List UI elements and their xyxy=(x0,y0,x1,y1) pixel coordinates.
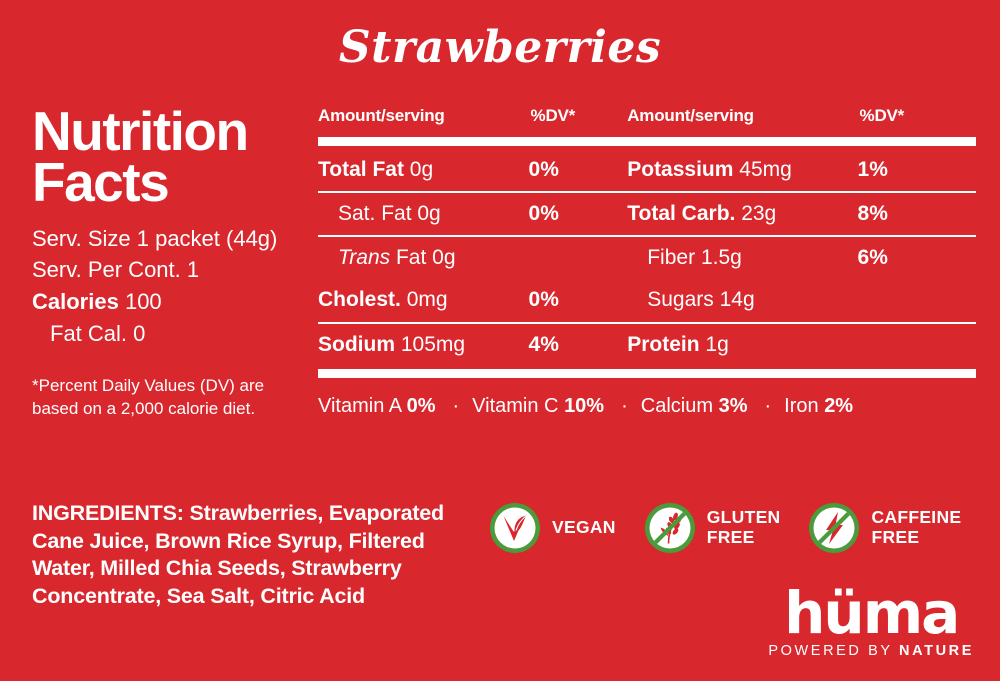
badge-vegan-line1: VEGAN xyxy=(552,518,616,538)
row-dv-left: 0% xyxy=(529,279,628,321)
ingredients-block: INGREDIENTS: Strawberries, Evaporated Ca… xyxy=(32,500,472,610)
product-title: Strawberries xyxy=(0,0,1000,70)
row-label-right: Protein 1g xyxy=(627,324,857,366)
table-bottom-bar xyxy=(318,366,976,381)
row-dv-left xyxy=(529,237,628,279)
calcium-value: 3% xyxy=(719,395,748,417)
nutrient-value-left: 105mg xyxy=(401,333,465,356)
nutrient-name-right: Fiber xyxy=(647,246,695,269)
brand-tagline-light: POWERED BY xyxy=(768,643,899,659)
brand-tagline: POWERED BY NATURE xyxy=(768,643,974,659)
vegan-v-leaf-icon xyxy=(487,500,543,556)
nutrient-name-left: Total Fat xyxy=(318,158,404,181)
nutrient-name-right: Total Carb. xyxy=(627,202,735,225)
row-dv-left: 0% xyxy=(529,193,628,235)
no-wheat-icon xyxy=(642,500,698,556)
nutrient-name-left: Sodium xyxy=(318,333,395,356)
nutrient-name-left: Sat. Fat xyxy=(338,202,412,225)
vitamin-a-label: Vitamin A xyxy=(318,395,401,417)
calories-value: 100 xyxy=(125,289,162,314)
calories-label: Calories xyxy=(32,289,119,314)
row-dv-right xyxy=(858,324,976,366)
nutrient-value-right: 1.5g xyxy=(701,246,742,269)
nutrition-facts-summary: Nutrition Facts Serv. Size 1 packet (44g… xyxy=(0,106,318,420)
badge-gluten-free-text: GLUTEN FREE xyxy=(707,508,781,547)
table-row: Sodium 105mg 4% Protein 1g xyxy=(318,324,976,366)
badge-gluten-free-line2: FREE xyxy=(707,528,781,548)
certification-badges: VEGAN xyxy=(487,500,961,556)
nutrition-facts-heading-line2: Facts xyxy=(32,157,318,208)
row-dv-right: 1% xyxy=(858,149,976,191)
nutrient-name-left: Cholest. xyxy=(318,288,401,311)
vitamin-a: Vitamin A 0% xyxy=(318,395,436,418)
badge-caffeine-free-line2: FREE xyxy=(871,528,961,548)
nutrient-name-left: Trans xyxy=(338,246,390,269)
vitamin-separator: · xyxy=(764,395,771,418)
header-dv-left: %DV* xyxy=(529,106,628,134)
header-amount-left: Amount/serving xyxy=(318,106,529,134)
badge-gluten-free: GLUTEN FREE xyxy=(642,500,781,556)
badge-caffeine-free: CAFFEINE FREE xyxy=(806,500,961,556)
row-dv-right xyxy=(858,279,976,321)
nutrition-facts-heading: Nutrition Facts xyxy=(32,106,318,207)
bottom-section: INGREDIENTS: Strawberries, Evaporated Ca… xyxy=(0,492,1000,681)
nutrient-value-right: 1g xyxy=(705,333,728,356)
vitamin-separator: · xyxy=(453,395,460,418)
calories-row: Calories 100 xyxy=(32,286,318,318)
badge-vegan-text: VEGAN xyxy=(552,518,616,538)
nutrient-value-left: 0g xyxy=(410,158,433,181)
nutrient-value-right: 14g xyxy=(720,288,755,311)
badge-caffeine-free-text: CAFFEINE FREE xyxy=(871,508,961,547)
brand-logo: hüma POWERED BY NATURE xyxy=(768,589,974,659)
no-lightning-bolt-icon xyxy=(806,500,862,556)
vitamin-a-value: 0% xyxy=(407,395,436,417)
badge-gluten-free-line1: GLUTEN xyxy=(707,508,781,528)
iron: Iron 2% xyxy=(784,395,853,418)
row-label-left: Trans Fat 0g xyxy=(318,237,529,279)
vitamin-separator: · xyxy=(621,395,628,418)
fat-calories: Fat Cal. 0 xyxy=(32,318,318,350)
badge-vegan: VEGAN xyxy=(487,500,616,556)
calcium-label: Calcium xyxy=(641,395,713,417)
header-amount-right: Amount/serving xyxy=(627,106,857,134)
vitamin-c: Vitamin C 10% xyxy=(472,395,604,418)
ingredients-label: INGREDIENTS: xyxy=(32,501,184,525)
row-label-left: Sat. Fat 0g xyxy=(318,193,529,235)
row-label-right: Potassium 45mg xyxy=(627,149,857,191)
row-dv-left: 4% xyxy=(529,324,628,366)
nutrient-value-left: Fat 0g xyxy=(396,246,456,269)
nutrient-name-right: Protein xyxy=(627,333,699,356)
nutrient-value-right: 45mg xyxy=(739,158,792,181)
row-label-right: Total Carb. 23g xyxy=(627,193,857,235)
row-dv-right: 6% xyxy=(858,237,976,279)
nutrient-value-right: 23g xyxy=(741,202,776,225)
iron-label: Iron xyxy=(784,395,818,417)
iron-value: 2% xyxy=(824,395,853,417)
nutrient-value-left: 0g xyxy=(417,202,440,225)
calcium: Calcium 3% xyxy=(641,395,748,418)
table-row: Cholest. 0mg 0% Sugars 14g xyxy=(318,279,976,321)
table-row: Trans Fat 0g Fiber 1.5g 6% xyxy=(318,237,976,279)
nutrition-table: Amount/serving %DV* Amount/serving %DV* … xyxy=(318,106,976,381)
nutrient-name-right: Sugars xyxy=(647,288,714,311)
vitamin-c-label: Vitamin C xyxy=(472,395,558,417)
row-dv-left: 0% xyxy=(529,149,628,191)
brand-tagline-bold: NATURE xyxy=(899,643,974,659)
row-label-left: Cholest. 0mg xyxy=(318,279,529,321)
row-label-right: Fiber 1.5g xyxy=(627,237,857,279)
servings-per-container: Serv. Per Cont. 1 xyxy=(32,254,318,285)
row-label-right: Sugars 14g xyxy=(627,279,857,321)
serving-size: Serv. Size 1 packet (44g) xyxy=(32,223,318,254)
row-dv-right: 8% xyxy=(858,193,976,235)
nutrition-table-wrapper: Amount/serving %DV* Amount/serving %DV* … xyxy=(318,106,1000,420)
table-row: Sat. Fat 0g 0% Total Carb. 23g 8% xyxy=(318,193,976,235)
table-top-bar xyxy=(318,134,976,149)
nutrient-value-left: 0mg xyxy=(407,288,448,311)
vitamin-c-value: 10% xyxy=(564,395,604,417)
table-header-row: Amount/serving %DV* Amount/serving %DV* xyxy=(318,106,976,134)
header-dv-right: %DV* xyxy=(858,106,976,134)
daily-value-footnote: *Percent Daily Values (DV) are based on … xyxy=(32,375,312,419)
nutrient-name-right: Potassium xyxy=(627,158,733,181)
vitamins-row: Vitamin A 0% · Vitamin C 10% · Calcium 3… xyxy=(318,381,976,418)
row-label-left: Total Fat 0g xyxy=(318,149,529,191)
nutrition-panel: Nutrition Facts Serv. Size 1 packet (44g… xyxy=(0,70,1000,420)
table-row: Total Fat 0g 0% Potassium 45mg 1% xyxy=(318,149,976,191)
brand-wordmark: hüma xyxy=(768,589,974,639)
row-label-left: Sodium 105mg xyxy=(318,324,529,366)
badge-caffeine-free-line1: CAFFEINE xyxy=(871,508,961,528)
